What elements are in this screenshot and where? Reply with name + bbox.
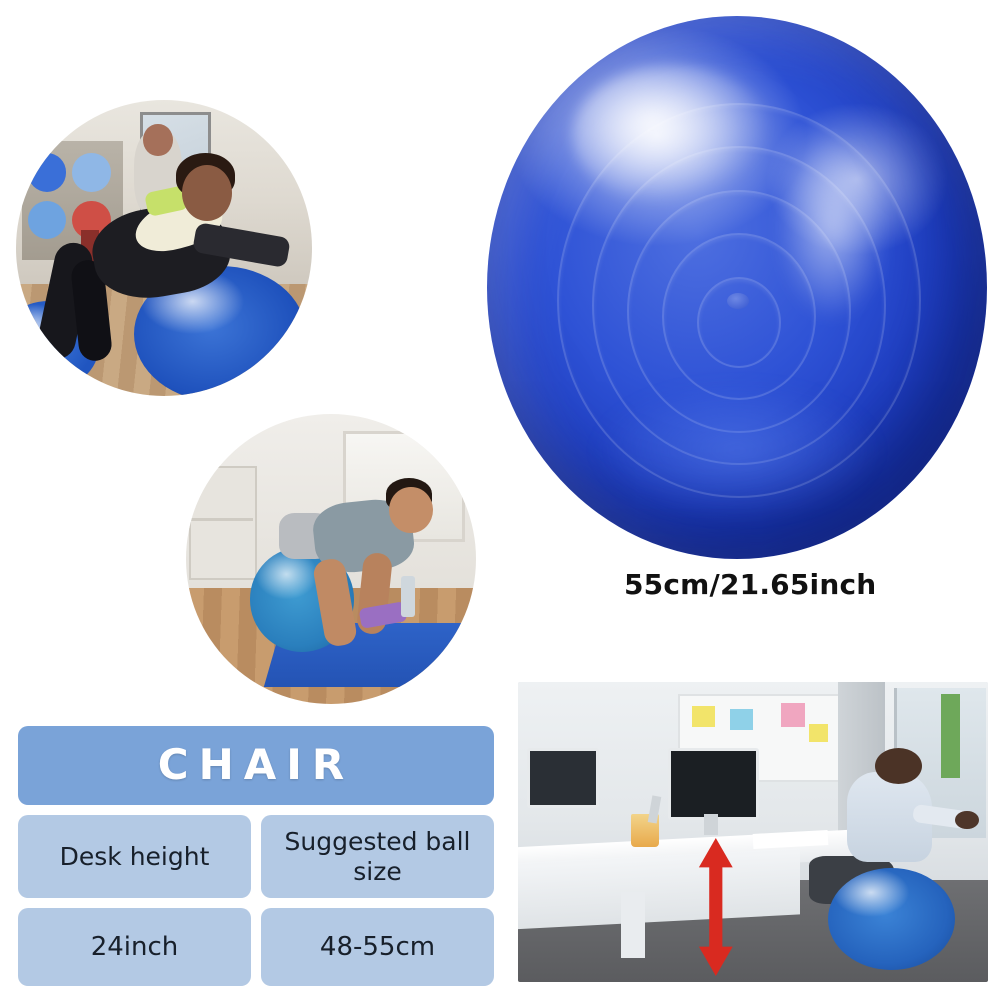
sticky-note	[692, 706, 716, 727]
exercise-ball-product-image	[487, 16, 987, 559]
ball-bottom-glow	[597, 385, 877, 515]
person-head	[875, 748, 922, 784]
exercise-ball	[487, 16, 987, 559]
chair-table-data-row: 24inch 48-55cm	[18, 908, 494, 986]
ball-ring-texture	[487, 16, 987, 559]
sticky-note	[730, 709, 754, 730]
shelf-ball	[28, 153, 66, 191]
primary-monitor	[668, 748, 759, 820]
photo-man-plank-on-exercise-ball	[186, 414, 476, 704]
sticky-note	[809, 724, 828, 742]
water-bottle	[401, 576, 416, 617]
ball-secondary-highlight	[777, 135, 887, 320]
ball-ring	[697, 277, 781, 368]
chair-table-title: CHAIR	[18, 726, 494, 805]
chair-table-header-row: Desk height Suggested ball size	[18, 815, 494, 898]
ball-plug	[727, 293, 749, 309]
person-head	[389, 487, 433, 533]
secondary-monitor	[527, 748, 599, 808]
header-suggested-ball-size-text: Suggested ball size	[267, 827, 488, 886]
ball-highlight	[572, 65, 772, 206]
living-room-scene	[186, 414, 476, 704]
gym-scene	[16, 100, 312, 396]
background-person-head	[143, 124, 173, 157]
ball-size-label: 55cm/21.65inch	[624, 568, 876, 601]
blue-exercise-ball	[828, 868, 955, 970]
office-plant	[941, 694, 960, 778]
sticky-note	[781, 703, 805, 727]
header-desk-height: Desk height	[18, 815, 251, 898]
shelf-ball	[72, 153, 110, 191]
person-hand	[955, 811, 979, 829]
chair-size-table: CHAIR Desk height Suggested ball size 24…	[18, 726, 494, 986]
photo-woman-sitting-on-ball-at-desk	[518, 682, 988, 982]
monitor-stand	[704, 814, 718, 835]
double-headed-vertical-arrow-icon	[697, 838, 735, 976]
shelf-unit	[189, 466, 257, 580]
header-suggested-ball-size: Suggested ball size	[261, 815, 494, 898]
product-infographic: 55cm/21.65inch	[0, 0, 1000, 1000]
person-head	[182, 165, 232, 221]
shelf-ball	[28, 201, 66, 239]
desk-leg	[621, 892, 645, 958]
photo-woman-stretching-on-exercise-ball	[16, 100, 312, 396]
cell-desk-height-value: 24inch	[18, 908, 251, 986]
shelf-divider	[189, 518, 253, 521]
cell-ball-size-value: 48-55cm	[261, 908, 494, 986]
